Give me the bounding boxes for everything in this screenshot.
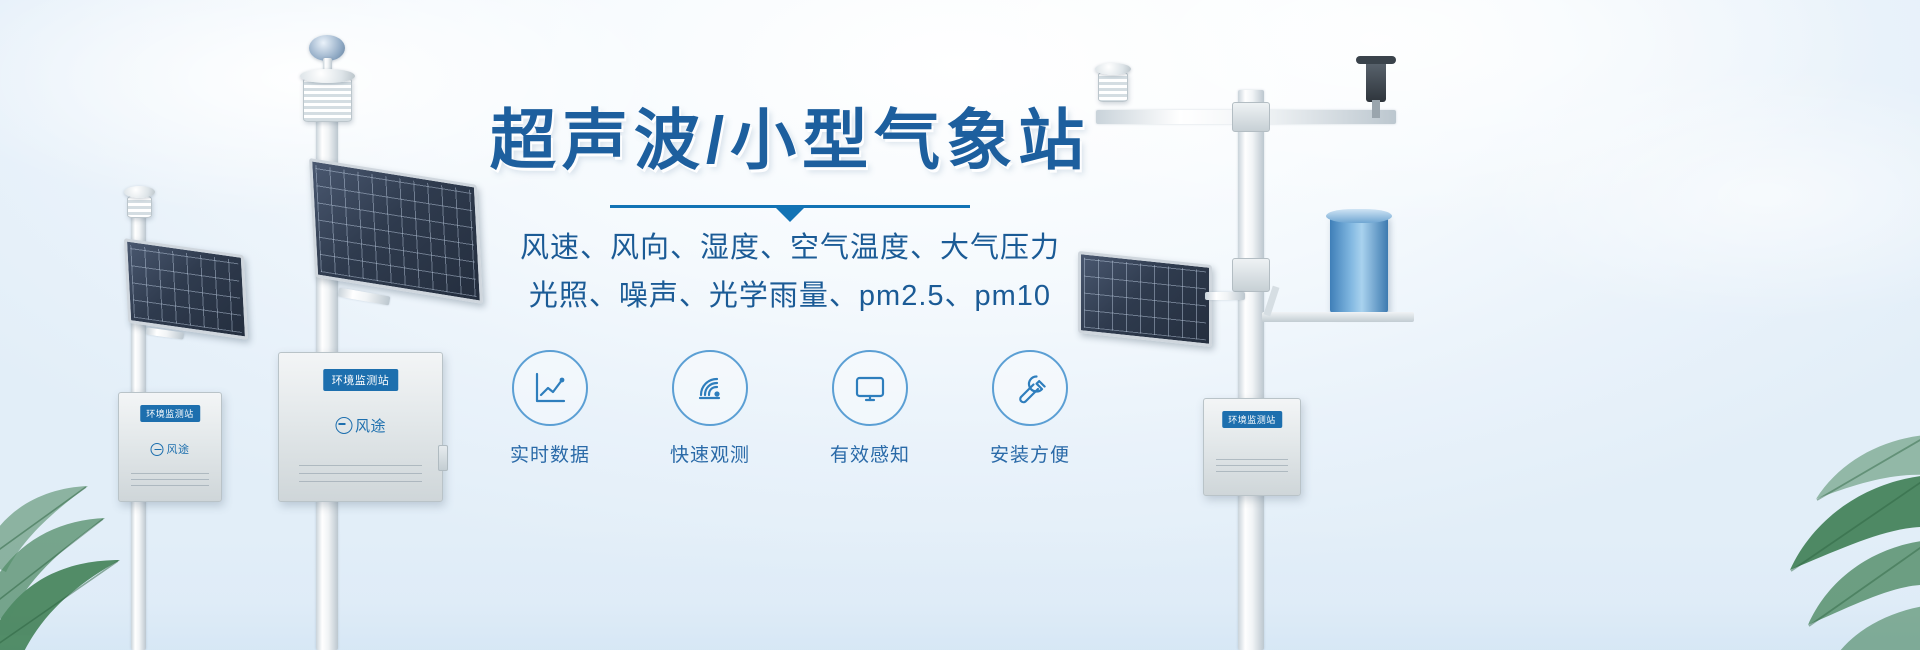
vent-line bbox=[1216, 459, 1289, 460]
cabinet-label: 环境监测站 bbox=[1222, 411, 1282, 428]
divider-caret-icon bbox=[776, 208, 804, 222]
subtitle-line-2: 光照、噪声、光学雨量、pm2.5、pm10 bbox=[440, 273, 1140, 320]
shield-top-cap bbox=[1095, 63, 1131, 75]
ground-haze bbox=[0, 530, 1920, 650]
solar-panel bbox=[124, 238, 248, 340]
cabinet-label: 环境监测站 bbox=[323, 369, 399, 391]
enclosure-cabinet: 环境监测站 风途 bbox=[118, 392, 222, 502]
vent-line bbox=[1216, 465, 1289, 466]
brand-mark-icon bbox=[151, 443, 164, 456]
feature-item-easy-installation[interactable]: 安装方便 bbox=[974, 350, 1086, 467]
feature-item-effective-sensing[interactable]: 有效感知 bbox=[814, 350, 926, 467]
solar-cell-grid bbox=[130, 245, 242, 333]
vent-line bbox=[299, 473, 423, 474]
enclosure-cabinet: 环境监测站 风途 bbox=[278, 352, 443, 502]
radiation-shield bbox=[1098, 72, 1128, 102]
feature-item-fast-observation[interactable]: 快速观测 bbox=[654, 350, 766, 467]
enclosure-cabinet: 环境监测站 bbox=[1203, 398, 1301, 496]
product-banner: 环境监测站 风途 环境监测站 风途 bbox=[0, 0, 1920, 650]
panel-mount-arm bbox=[338, 288, 391, 306]
radiation-shield bbox=[127, 196, 152, 218]
vent-line bbox=[299, 465, 423, 466]
wrench-icon bbox=[992, 350, 1068, 426]
vent-line bbox=[131, 473, 209, 474]
sensor-cap bbox=[124, 186, 155, 198]
radiation-shield-stack bbox=[303, 78, 352, 122]
wind-sensor-body bbox=[1366, 60, 1386, 102]
rain-gauge bbox=[1330, 215, 1388, 313]
chart-line-icon bbox=[512, 350, 588, 426]
wind-sensor-mount bbox=[1372, 100, 1380, 118]
monitor-icon bbox=[832, 350, 908, 426]
equipment-shelf bbox=[1262, 312, 1414, 322]
vent-line bbox=[131, 485, 209, 486]
mast-collar bbox=[1232, 102, 1270, 132]
brand-mark-icon bbox=[335, 417, 352, 434]
feature-label: 实时数据 bbox=[494, 440, 606, 467]
brand-name: 风途 bbox=[355, 415, 386, 436]
page-title: 超声波/小型气象站 bbox=[440, 100, 1140, 181]
cabinet-label: 环境监测站 bbox=[140, 405, 200, 422]
feature-label: 安装方便 bbox=[974, 440, 1086, 467]
mast-pole bbox=[1238, 90, 1264, 650]
mast-collar bbox=[1232, 258, 1270, 292]
feature-item-realtime-data[interactable]: 实时数据 bbox=[494, 350, 606, 467]
brand-logo: 风途 bbox=[151, 441, 190, 457]
feature-label: 有效感知 bbox=[814, 440, 926, 467]
rain-gauge-rim bbox=[1326, 209, 1392, 223]
feature-label: 快速观测 bbox=[654, 440, 766, 467]
title-divider bbox=[610, 199, 970, 215]
feature-list: 实时数据 快速观测 bbox=[440, 350, 1140, 467]
subtitle-line-1: 风速、风向、湿度、空气温度、大气压力 bbox=[440, 225, 1140, 272]
shield-top-cap bbox=[300, 69, 355, 83]
panel-mount-arm bbox=[1205, 292, 1245, 300]
signal-wave-icon bbox=[672, 350, 748, 426]
wind-sensor-vane bbox=[1356, 56, 1396, 64]
brand-name: 风途 bbox=[167, 441, 190, 457]
vent-line bbox=[131, 479, 209, 480]
brand-logo: 风途 bbox=[335, 415, 386, 436]
vent-line bbox=[1216, 471, 1289, 472]
banner-content: 超声波/小型气象站 风速、风向、湿度、空气温度、大气压力 光照、噪声、光学雨量、… bbox=[440, 100, 1140, 467]
vent-line bbox=[299, 481, 423, 482]
